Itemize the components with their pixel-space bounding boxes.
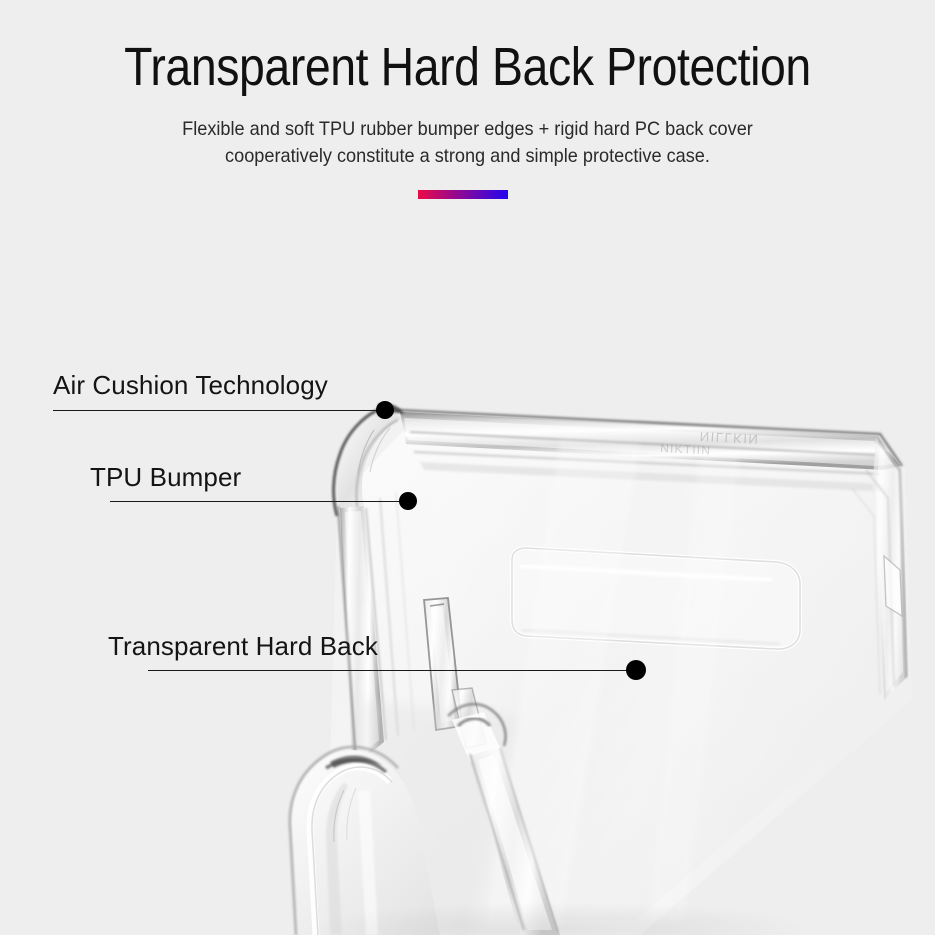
callout-label-transparent-hard-back: Transparent Hard Back: [108, 631, 378, 662]
callout-leader-line-tpu-bumper: [110, 501, 409, 502]
callout-label-tpu-bumper: TPU Bumper: [90, 462, 241, 493]
callout-marker-air-cushion-technology: [376, 401, 394, 419]
callout-marker-tpu-bumper: [399, 492, 417, 510]
svg-text:NIKTIIN: NIKTIIN: [660, 441, 712, 457]
page-subtitle: Flexible and soft TPU rubber bumper edge…: [33, 116, 903, 170]
callout-marker-transparent-hard-back: [626, 660, 646, 680]
callout-leader-line-transparent-hard-back: [148, 670, 636, 671]
callout-label-air-cushion-technology: Air Cushion Technology: [53, 370, 328, 401]
svg-text:NILLKIN: NILLKIN: [699, 429, 759, 447]
callout-leader-line-air-cushion-technology: [53, 410, 386, 411]
product-feature-image: NILLKIN NIKTIIN: [0, 0, 935, 935]
embossed-branding-text: NILLKIN NIKTIIN: [660, 429, 760, 457]
gradient-divider: [418, 190, 508, 199]
case-lower-corner: [290, 747, 440, 935]
camera-cutout-lip: [512, 548, 800, 649]
page-subtitle-line-1: Flexible and soft TPU rubber bumper edge…: [33, 116, 903, 143]
page-subtitle-line-2: cooperatively constitute a strong and si…: [33, 143, 903, 170]
page-title: Transparent Hard Back Protection: [65, 36, 869, 98]
button-cutouts: [424, 598, 486, 748]
case-bottom-rail: [448, 704, 560, 935]
